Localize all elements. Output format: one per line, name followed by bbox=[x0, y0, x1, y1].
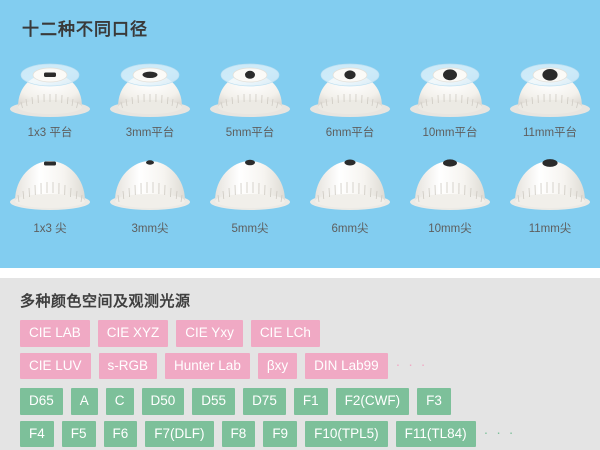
aperture-label: 11mm平台 bbox=[523, 124, 577, 140]
colorspace-tag[interactable]: CIE LUV bbox=[20, 353, 91, 380]
aperture-cone-icon bbox=[402, 152, 498, 214]
colorspace-tag[interactable]: CIE LAB bbox=[20, 320, 90, 347]
colorspace-tag[interactable]: DIN Lab99 bbox=[305, 353, 388, 380]
aperture-card[interactable]: 10mm尖 bbox=[400, 152, 500, 236]
illuminant-more-ellipsis[interactable]: · · · bbox=[484, 425, 516, 442]
illuminant-tag[interactable]: F9 bbox=[263, 421, 297, 448]
illuminant-tag[interactable]: F11(TL84) bbox=[396, 421, 476, 448]
aperture-flat-icon bbox=[402, 52, 498, 120]
colorspace-tag-row-2: CIE LUV s-RGB Hunter Lab βxy DIN Lab99 ·… bbox=[20, 353, 580, 380]
aperture-label: 3mm尖 bbox=[131, 220, 168, 236]
aperture-card[interactable]: 3mm平台 bbox=[100, 52, 200, 140]
illuminant-tag[interactable]: F10(TPL5) bbox=[305, 421, 388, 448]
aperture-card[interactable]: 11mm尖 bbox=[500, 152, 600, 236]
aperture-card[interactable]: 3mm尖 bbox=[100, 152, 200, 236]
aperture-label: 11mm尖 bbox=[529, 220, 572, 236]
aperture-flat-icon bbox=[502, 52, 598, 120]
aperture-cone-icon bbox=[102, 152, 198, 214]
colorspace-tag[interactable]: βxy bbox=[258, 353, 297, 380]
aperture-label: 1x3 平台 bbox=[28, 124, 73, 140]
illuminant-tag[interactable]: C bbox=[106, 388, 134, 415]
illuminant-tag[interactable]: F5 bbox=[62, 421, 96, 448]
aperture-label: 6mm尖 bbox=[331, 220, 368, 236]
illuminant-tag[interactable]: F2(CWF) bbox=[336, 388, 409, 415]
illuminant-tag[interactable]: A bbox=[71, 388, 98, 415]
aperture-flat-icon bbox=[202, 52, 298, 120]
colorspace-tag[interactable]: CIE LCh bbox=[251, 320, 320, 347]
aperture-label: 10mm平台 bbox=[423, 124, 478, 140]
panel-title: 多种颜色空间及观测光源 bbox=[20, 290, 580, 311]
colorspace-tag[interactable]: CIE Yxy bbox=[176, 320, 243, 347]
aperture-card[interactable]: 1x3 平台 bbox=[0, 52, 100, 140]
colorspace-tag[interactable]: Hunter Lab bbox=[165, 353, 250, 380]
aperture-cone-icon bbox=[2, 152, 98, 214]
aperture-cone-icon bbox=[302, 152, 398, 214]
colorspace-more-ellipsis[interactable]: · · · bbox=[396, 357, 428, 374]
illuminant-tag[interactable]: F4 bbox=[20, 421, 54, 448]
illuminant-tag[interactable]: D50 bbox=[142, 388, 185, 415]
illuminant-tag[interactable]: F3 bbox=[417, 388, 451, 415]
aperture-card[interactable]: 5mm尖 bbox=[200, 152, 300, 236]
illuminant-tag[interactable]: F1 bbox=[294, 388, 328, 415]
colorspace-tag[interactable]: s-RGB bbox=[99, 353, 158, 380]
aperture-showcase-section: 十二种不同口径 bbox=[0, 0, 600, 268]
page-title: 十二种不同口径 bbox=[22, 15, 148, 40]
aperture-flat-icon bbox=[102, 52, 198, 120]
aperture-label: 3mm平台 bbox=[126, 124, 175, 140]
illuminant-tag[interactable]: D65 bbox=[20, 388, 63, 415]
aperture-flat-icon bbox=[302, 52, 398, 120]
colorspace-tag-row-1: CIE LAB CIE XYZ CIE Yxy CIE LCh bbox=[20, 320, 580, 347]
aperture-cone-icon bbox=[202, 152, 298, 214]
illuminant-tag[interactable]: D75 bbox=[243, 388, 286, 415]
aperture-label: 1x3 尖 bbox=[33, 220, 66, 236]
aperture-card[interactable]: 10mm平台 bbox=[400, 52, 500, 140]
colorspace-tag[interactable]: CIE XYZ bbox=[98, 320, 169, 347]
aperture-card[interactable]: 5mm平台 bbox=[200, 52, 300, 140]
illuminant-tag[interactable]: F8 bbox=[222, 421, 256, 448]
illuminant-tag[interactable]: F6 bbox=[104, 421, 138, 448]
aperture-card[interactable]: 6mm平台 bbox=[300, 52, 400, 140]
aperture-card[interactable]: 11mm平台 bbox=[500, 52, 600, 140]
illuminant-tag[interactable]: D55 bbox=[192, 388, 235, 415]
aperture-flat-icon bbox=[2, 52, 98, 120]
aperture-label: 10mm尖 bbox=[428, 220, 471, 236]
aperture-label: 5mm尖 bbox=[231, 220, 268, 236]
illuminant-tag[interactable]: F7(DLF) bbox=[145, 421, 213, 448]
aperture-card[interactable]: 1x3 尖 bbox=[0, 152, 100, 236]
aperture-cone-icon bbox=[502, 152, 598, 214]
illuminant-tag-row-2: F4 F5 F6 F7(DLF) F8 F9 F10(TPL5) F11(TL8… bbox=[20, 421, 580, 448]
aperture-card[interactable]: 6mm尖 bbox=[300, 152, 400, 236]
aperture-label: 5mm平台 bbox=[226, 124, 275, 140]
pointed-aperture-row: 1x3 尖 3 bbox=[0, 152, 600, 236]
colorspace-illuminant-section: 多种颜色空间及观测光源 CIE LAB CIE XYZ CIE Yxy CIE … bbox=[0, 278, 600, 450]
aperture-label: 6mm平台 bbox=[326, 124, 375, 140]
flat-aperture-row: 1x3 平台 bbox=[0, 52, 600, 140]
illuminant-tag-row-1: D65 A C D50 D55 D75 F1 F2(CWF) F3 bbox=[20, 388, 580, 415]
